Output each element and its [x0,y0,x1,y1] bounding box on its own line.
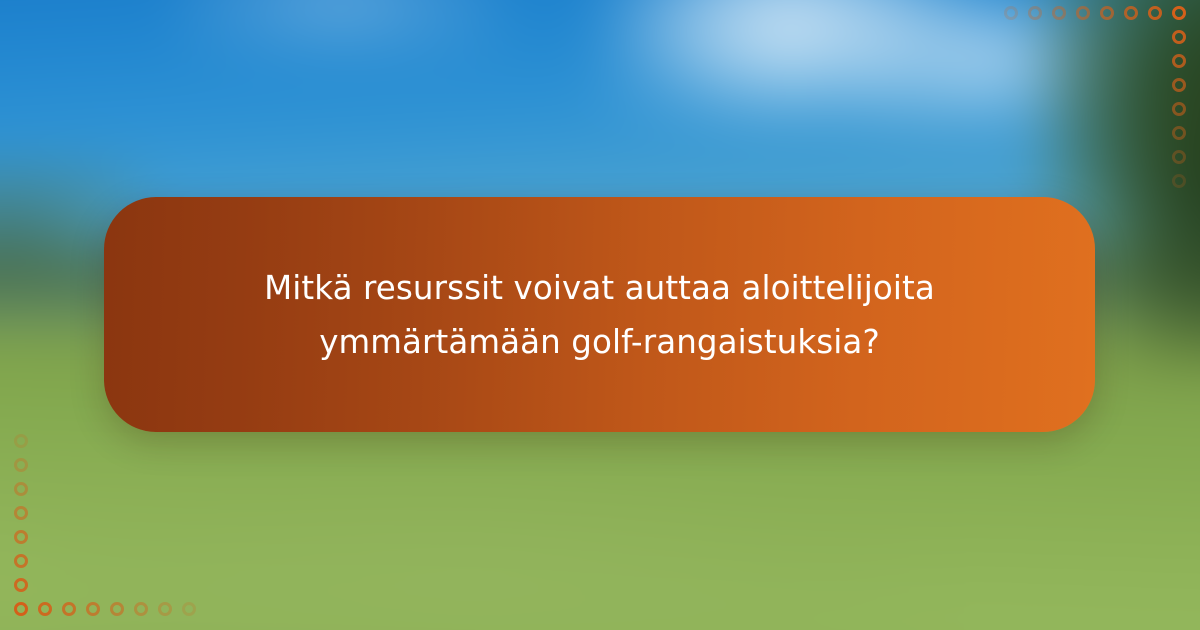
social-card-canvas: Mitkä resurssit voivat auttaa aloittelij… [0,0,1200,630]
decoration-ring-icon [38,602,52,616]
decoration-ring-icon [14,602,28,616]
decoration-ring-icon [14,530,28,544]
decoration-ring-icon [1100,6,1114,20]
decoration-ring-icon [14,578,28,592]
decoration-ring-icon [1172,78,1186,92]
decoration-ring-icon [1076,6,1090,20]
decoration-ring-icon [86,602,100,616]
decoration-dots-top-right [990,0,1200,210]
decoration-ring-icon [1172,150,1186,164]
cloud-left-icon [180,0,498,58]
decoration-ring-icon [1148,6,1162,20]
decoration-ring-icon [1172,174,1186,188]
decoration-ring-icon [1052,6,1066,20]
decoration-ring-icon [14,554,28,568]
decoration-ring-icon [110,602,124,616]
decoration-ring-icon [1172,54,1186,68]
decoration-ring-icon [1172,126,1186,140]
decoration-dots-bottom-left [0,420,210,630]
decoration-ring-icon [14,434,28,448]
decoration-ring-icon [134,602,148,616]
decoration-ring-icon [182,602,196,616]
decoration-ring-icon [1124,6,1138,20]
decoration-ring-icon [1004,6,1018,20]
decoration-ring-icon [14,506,28,520]
decoration-ring-icon [1028,6,1042,20]
decoration-ring-icon [62,602,76,616]
decoration-ring-icon [1172,30,1186,44]
headline-card: Mitkä resurssit voivat auttaa aloittelij… [104,197,1095,432]
decoration-ring-icon [1172,6,1186,20]
decoration-ring-icon [14,482,28,496]
decoration-ring-icon [14,458,28,472]
decoration-ring-icon [158,602,172,616]
decoration-ring-icon [1172,102,1186,116]
page-title: Mitkä resurssit voivat auttaa aloittelij… [177,261,1023,369]
